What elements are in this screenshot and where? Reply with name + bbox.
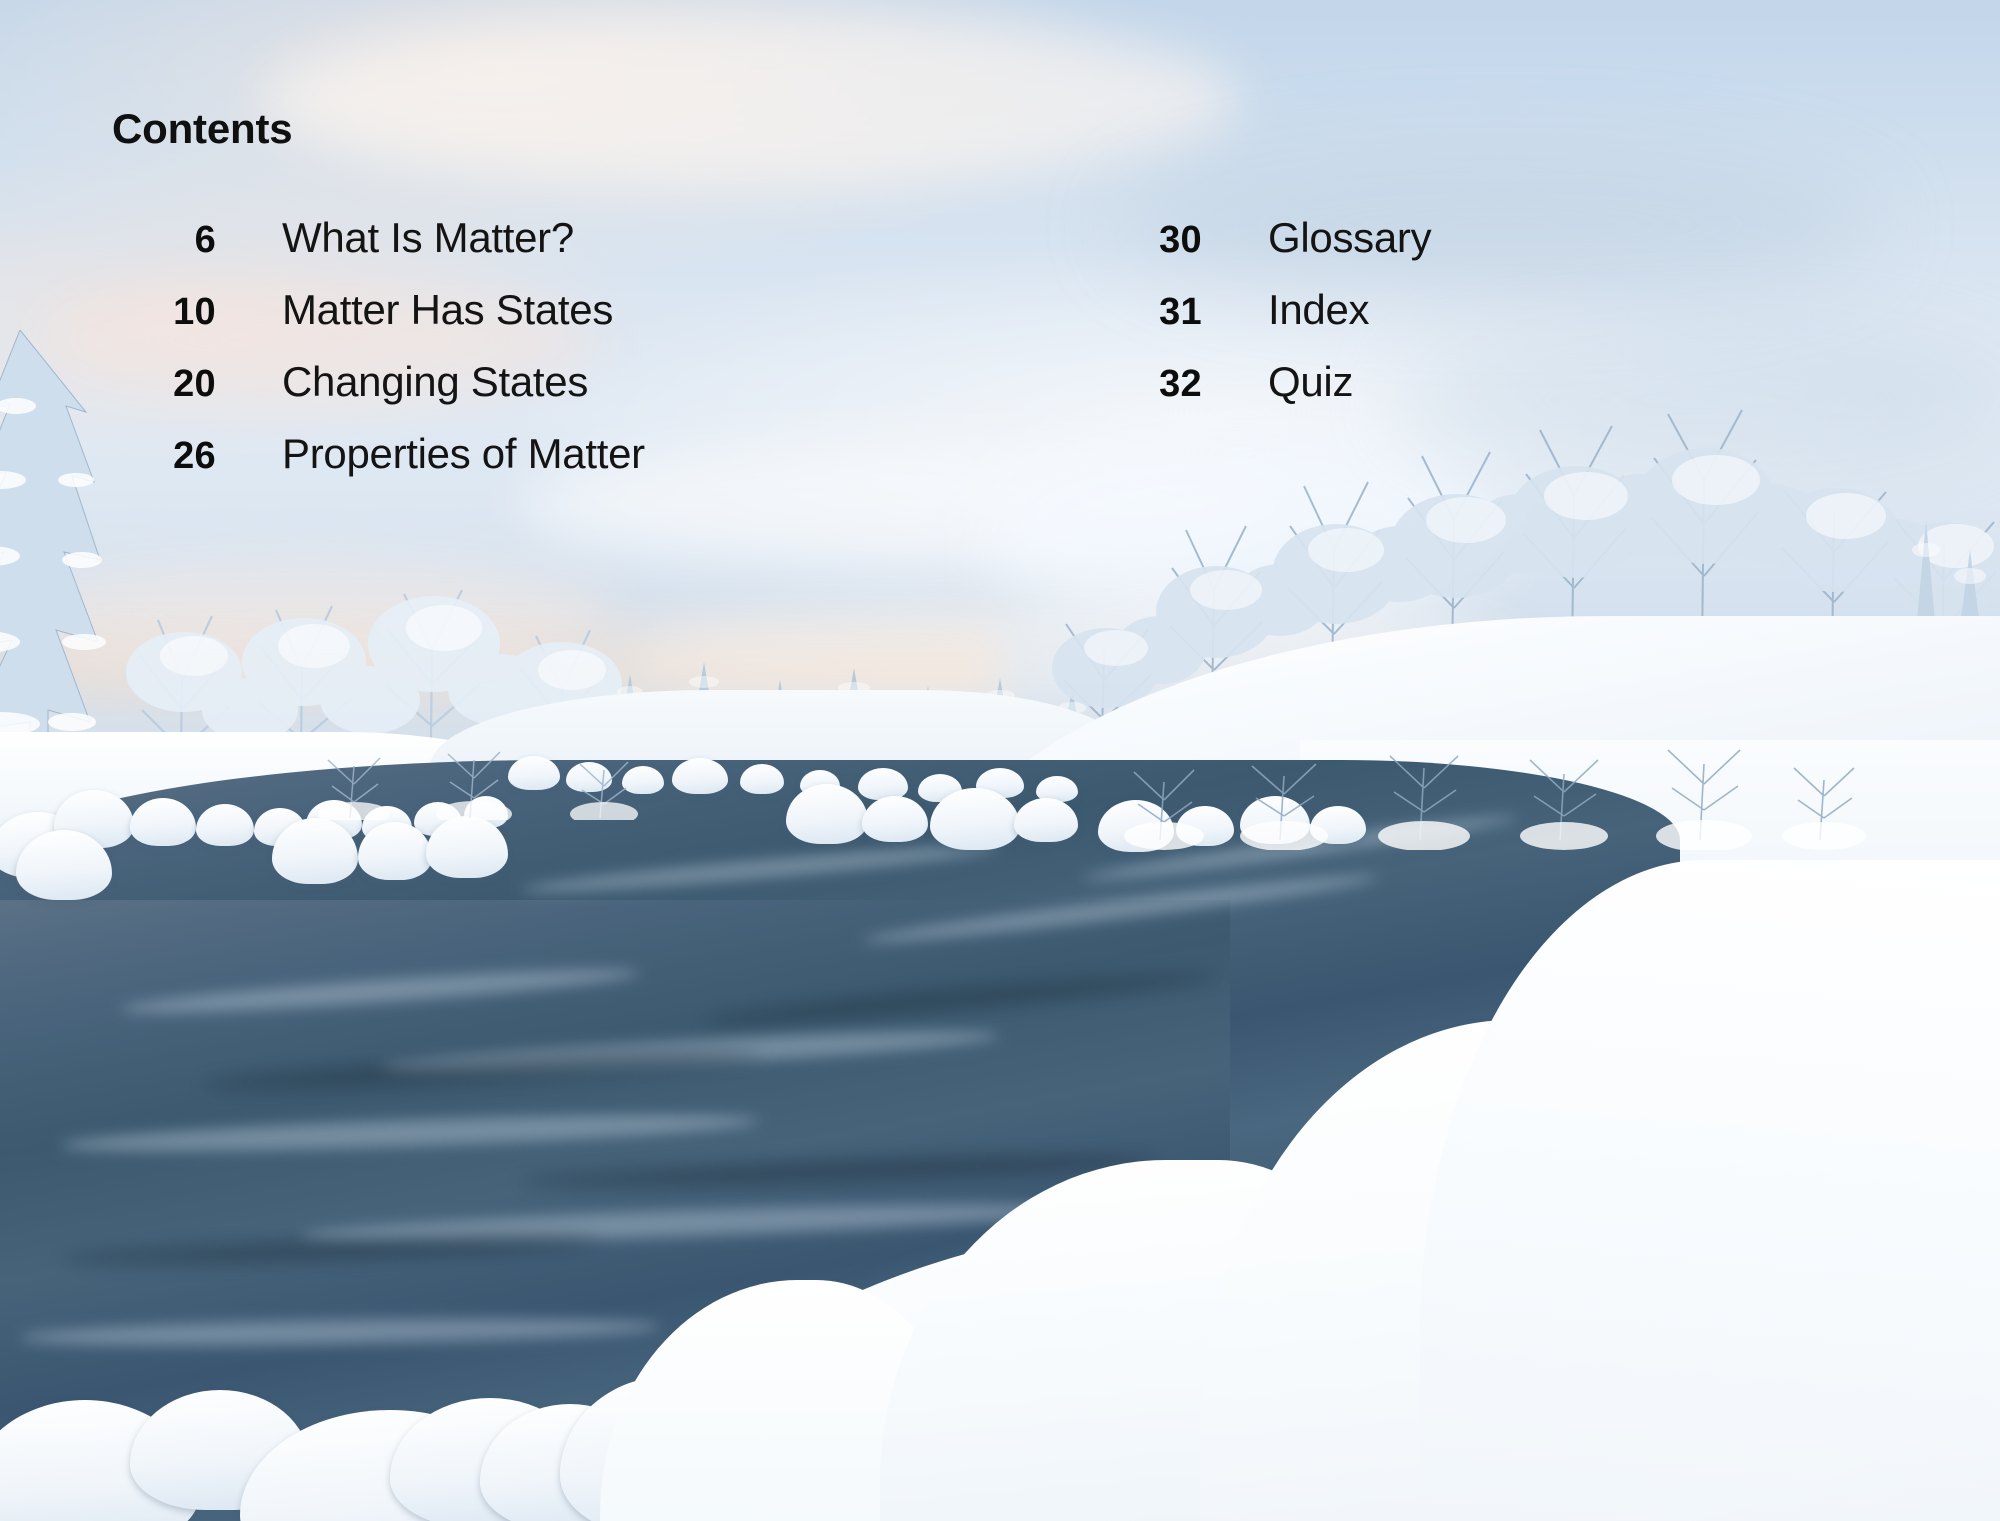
page-title: Contents: [112, 108, 292, 150]
contents-entry[interactable]: 26 Properties of Matter: [112, 430, 645, 502]
right-bank-snowy-shrubs: [1120, 690, 1880, 850]
contents-entry[interactable]: 30 Glossary: [1098, 214, 1431, 286]
contents-page-number: 26: [112, 435, 216, 478]
snow-capped-rock: [740, 764, 784, 794]
contents-page-number: 20: [112, 363, 216, 406]
contents-entry-label: Changing States: [216, 358, 588, 406]
contents-entry[interactable]: 10 Matter Has States: [112, 286, 645, 358]
table-of-contents: Contents 6 What Is Matter? 10 Matter Has…: [0, 0, 2000, 520]
contents-entry-label: Quiz: [1202, 358, 1353, 406]
contents-entry-label: Matter Has States: [216, 286, 613, 334]
contents-left-column: 6 What Is Matter? 10 Matter Has States 2…: [112, 214, 645, 502]
snow-capped-rock: [858, 768, 908, 800]
contents-page-number: 10: [112, 291, 216, 334]
contents-entry-label: Properties of Matter: [216, 430, 645, 478]
contents-page-number: 31: [1098, 291, 1202, 334]
contents-page-number: 32: [1098, 363, 1202, 406]
contents-right-column: 30 Glossary 31 Index 32 Quiz: [1098, 214, 1431, 430]
contents-entry[interactable]: 20 Changing States: [112, 358, 645, 430]
contents-page-number: 6: [112, 219, 216, 262]
left-bank-snowy-bushes: [300, 700, 720, 820]
contents-entry[interactable]: 6 What Is Matter?: [112, 214, 645, 286]
contents-entry[interactable]: 32 Quiz: [1098, 358, 1431, 430]
contents-page-number: 30: [1098, 219, 1202, 262]
contents-entry-label: Glossary: [1202, 214, 1431, 262]
contents-entry-label: What Is Matter?: [216, 214, 574, 262]
contents-entry-label: Index: [1202, 286, 1369, 334]
contents-entry[interactable]: 31 Index: [1098, 286, 1431, 358]
contents-page: Contents 6 What Is Matter? 10 Matter Has…: [0, 0, 2000, 1521]
